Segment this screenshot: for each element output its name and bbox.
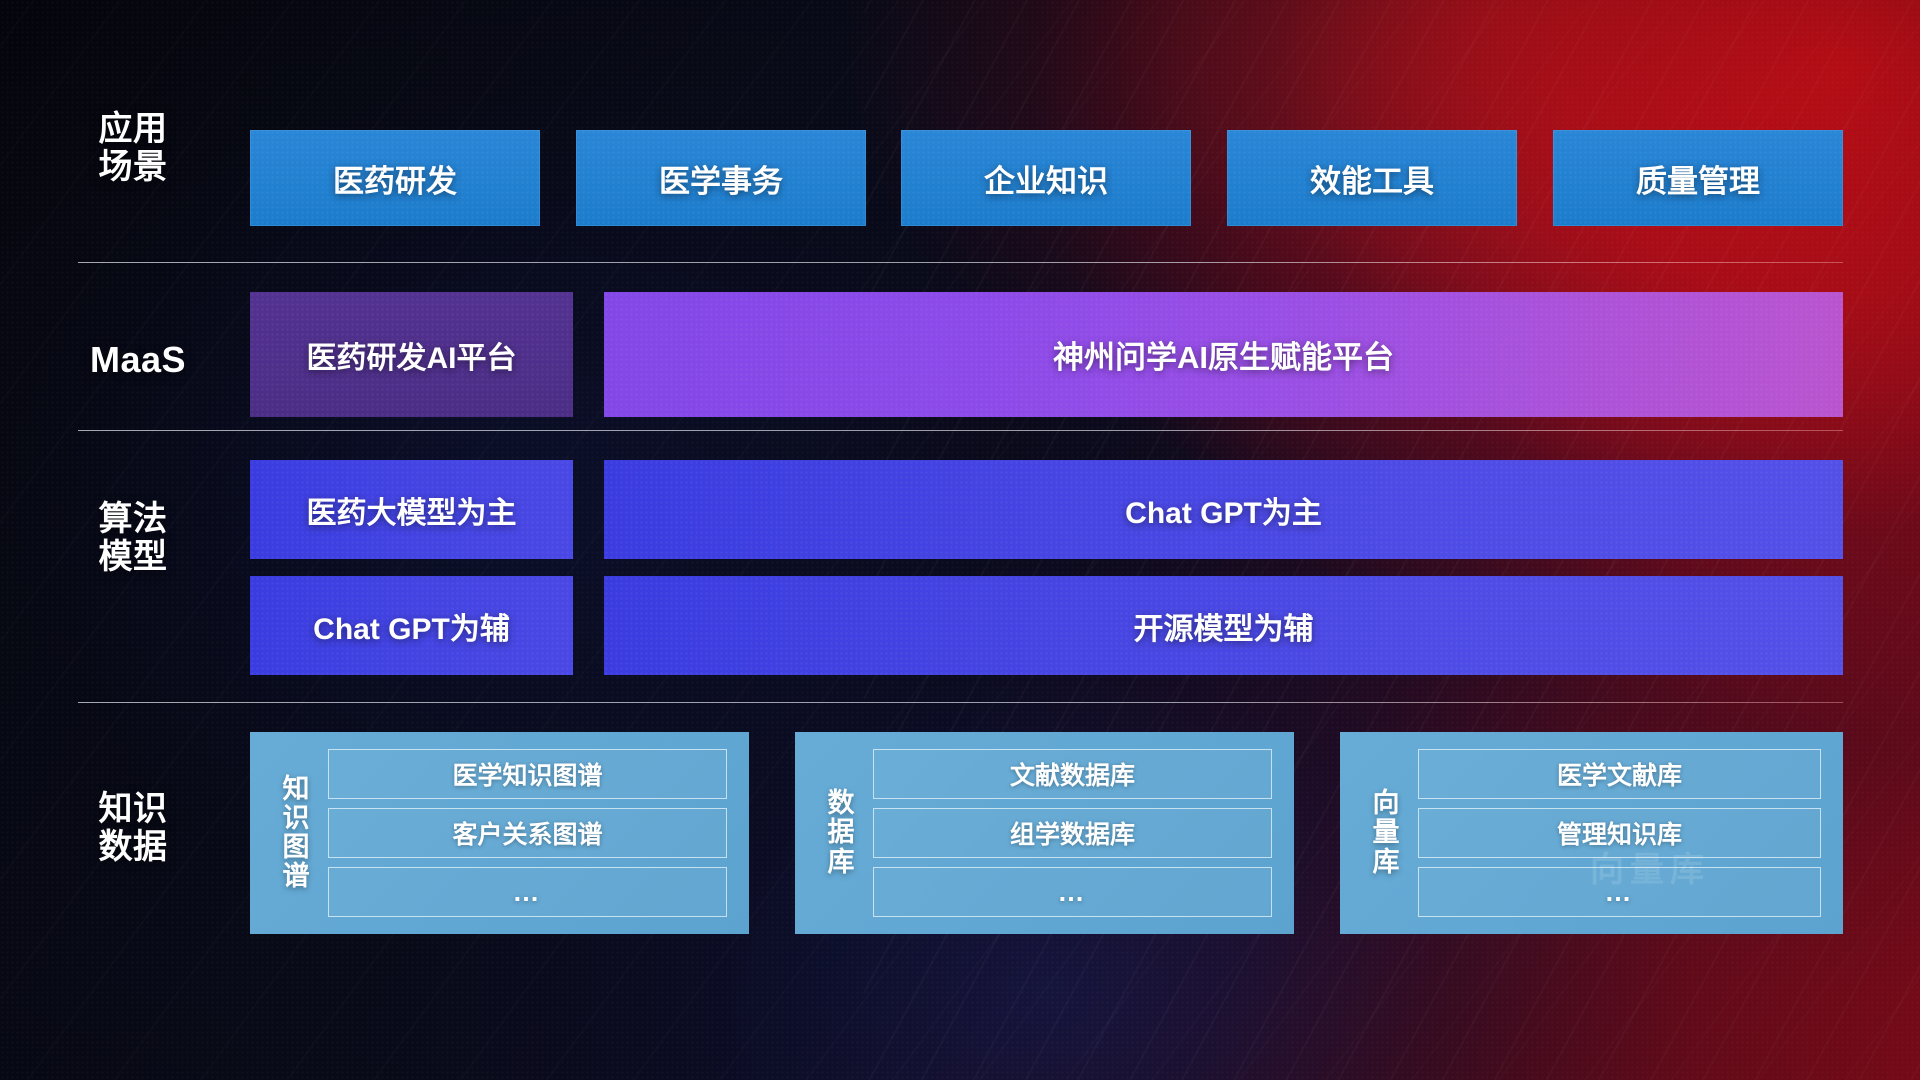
algo-left-box-2-label: Chat GPT为辅 [313,604,510,648]
row-label-algorithm: 算法 模型 [78,500,188,576]
knowledge-item[interactable]: 组学数据库 [873,808,1272,858]
app-box-4-label: 效能工具 [1310,156,1434,201]
row-label-maas: MaaS [78,340,198,380]
algo-right-box-2-label: 开源模型为辅 [1134,604,1314,648]
knowledge-group-1-items: 医学知识图谱 客户关系图谱 … [328,749,727,917]
knowledge-item[interactable]: 医学文献库 [1418,749,1821,799]
app-box-1-label: 医药研发 [333,156,457,201]
app-box-2[interactable]: 医学事务 [576,130,866,226]
app-box-3-label: 企业知识 [984,156,1108,201]
diagram-canvas: 应用 场景 医药研发 医学事务 企业知识 效能工具 质量管理 MaaS 医药研发… [0,0,1920,1080]
algo-right-box-1[interactable]: Chat GPT为主 [604,460,1843,559]
divider-application-maas [78,262,1843,263]
app-box-3[interactable]: 企业知识 [901,130,1191,226]
app-box-5[interactable]: 质量管理 [1553,130,1843,226]
maas-main-label: 神州问学AI原生赋能平台 [1053,332,1394,377]
knowledge-item[interactable]: 管理知识库 [1418,808,1821,858]
app-box-1[interactable]: 医药研发 [250,130,540,226]
knowledge-group-2-vlabel: 数据库 [819,789,863,876]
maas-left-label: 医药研发AI平台 [307,333,517,377]
knowledge-group-2: 数据库 文献数据库 组学数据库 … [795,732,1294,934]
algo-left-box-2[interactable]: Chat GPT为辅 [250,576,573,675]
divider-algorithm-knowledge [78,702,1843,703]
knowledge-group-2-items: 文献数据库 组学数据库 … [873,749,1272,917]
row-label-knowledge: 知识 数据 [78,790,188,866]
app-box-5-label: 质量管理 [1636,156,1760,201]
knowledge-group-3-vlabel: 向量库 [1364,789,1408,876]
app-box-2-label: 医学事务 [659,156,783,201]
algo-right-box-1-label: Chat GPT为主 [1125,488,1322,532]
maas-main-box[interactable]: 神州问学AI原生赋能平台 [604,292,1843,417]
knowledge-item[interactable]: 客户关系图谱 [328,808,727,858]
row-label-application: 应用 场景 [78,110,188,186]
knowledge-group-3-items: 医学文献库 管理知识库 … [1418,749,1821,917]
knowledge-item-more[interactable]: … [328,867,727,917]
algo-left-box-1-label: 医药大模型为主 [307,488,517,532]
algo-right-box-2[interactable]: 开源模型为辅 [604,576,1843,675]
divider-maas-algorithm [78,430,1843,431]
knowledge-group-3: 向量库 向量库 医学文献库 管理知识库 … [1340,732,1843,934]
knowledge-item-more[interactable]: … [873,867,1272,917]
maas-left-box[interactable]: 医药研发AI平台 [250,292,573,417]
knowledge-item[interactable]: 文献数据库 [873,749,1272,799]
algo-left-box-1[interactable]: 医药大模型为主 [250,460,573,559]
app-box-4[interactable]: 效能工具 [1227,130,1517,226]
knowledge-group-1: 知识图谱 医学知识图谱 客户关系图谱 … [250,732,749,934]
knowledge-group-1-vlabel: 知识图谱 [274,775,318,892]
knowledge-item-more[interactable]: … [1418,867,1821,917]
knowledge-item[interactable]: 医学知识图谱 [328,749,727,799]
